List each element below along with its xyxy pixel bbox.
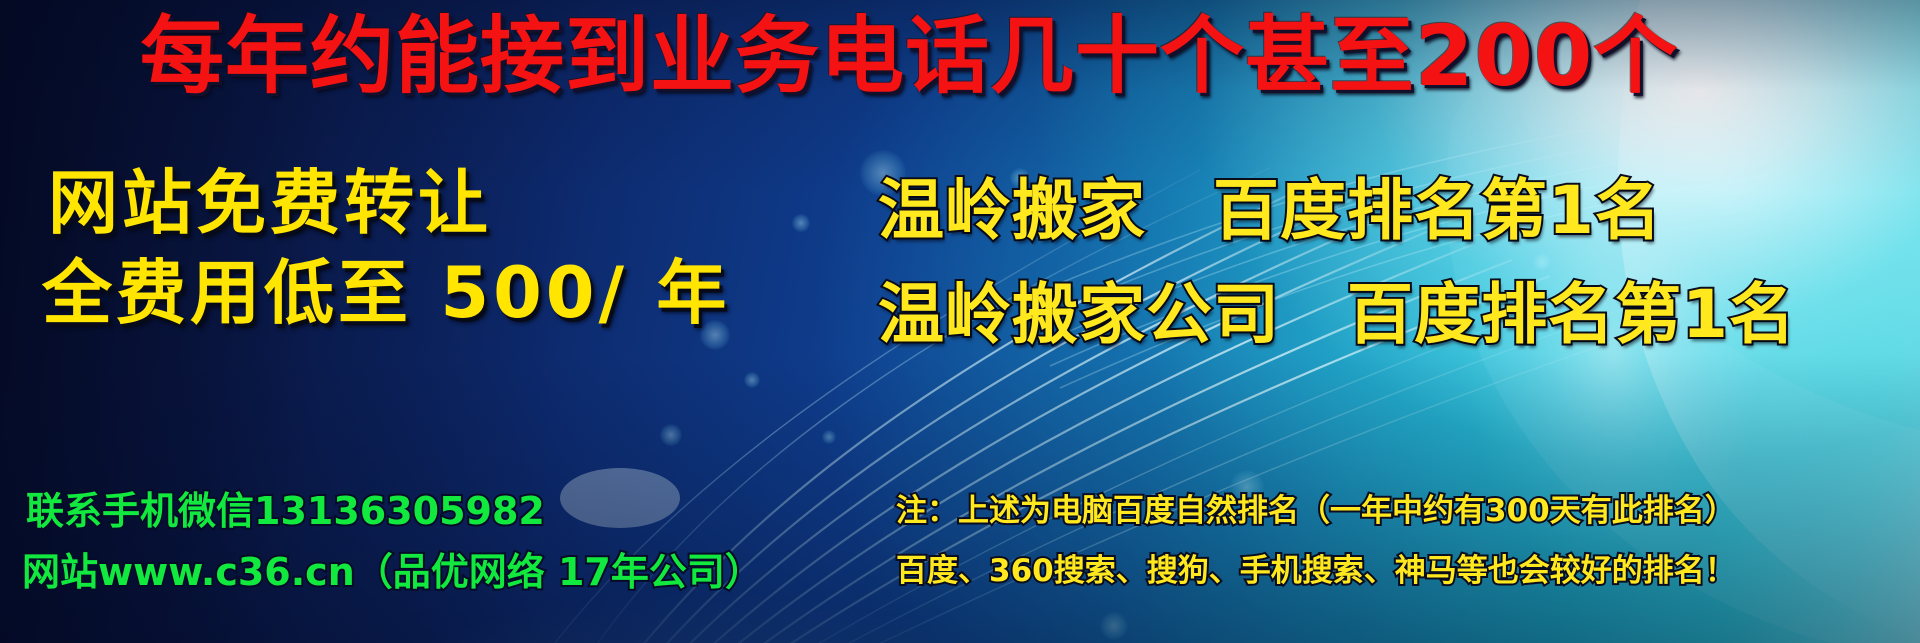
contact-website-line: 网站www.c36.cn（品优网络 17年公司） (22, 553, 763, 591)
offer-line-2: 全费用低至 500/ 年 (42, 258, 730, 328)
ranking-line-2: 温岭搬家公司 百度排名第1名 (878, 282, 1796, 348)
headline: 每年约能接到业务电话几十个甚至200个 (140, 14, 1678, 98)
ranking-line-1: 温岭搬家 百度排名第1名 (878, 178, 1662, 244)
note-line-2: 百度、360搜索、搜狗、手机搜索、神马等也会较好的排名！ (896, 556, 1736, 587)
offer-line-1: 网站免费转让 (48, 168, 492, 238)
note-line-1: 注：上述为电脑百度自然排名（一年中约有300天有此排名） (896, 496, 1736, 527)
promo-banner: 每年约能接到业务电话几十个甚至200个 网站免费转让 全费用低至 500/ 年 … (0, 0, 1920, 643)
contact-phone-line: 联系手机微信13136305982 (26, 492, 545, 530)
